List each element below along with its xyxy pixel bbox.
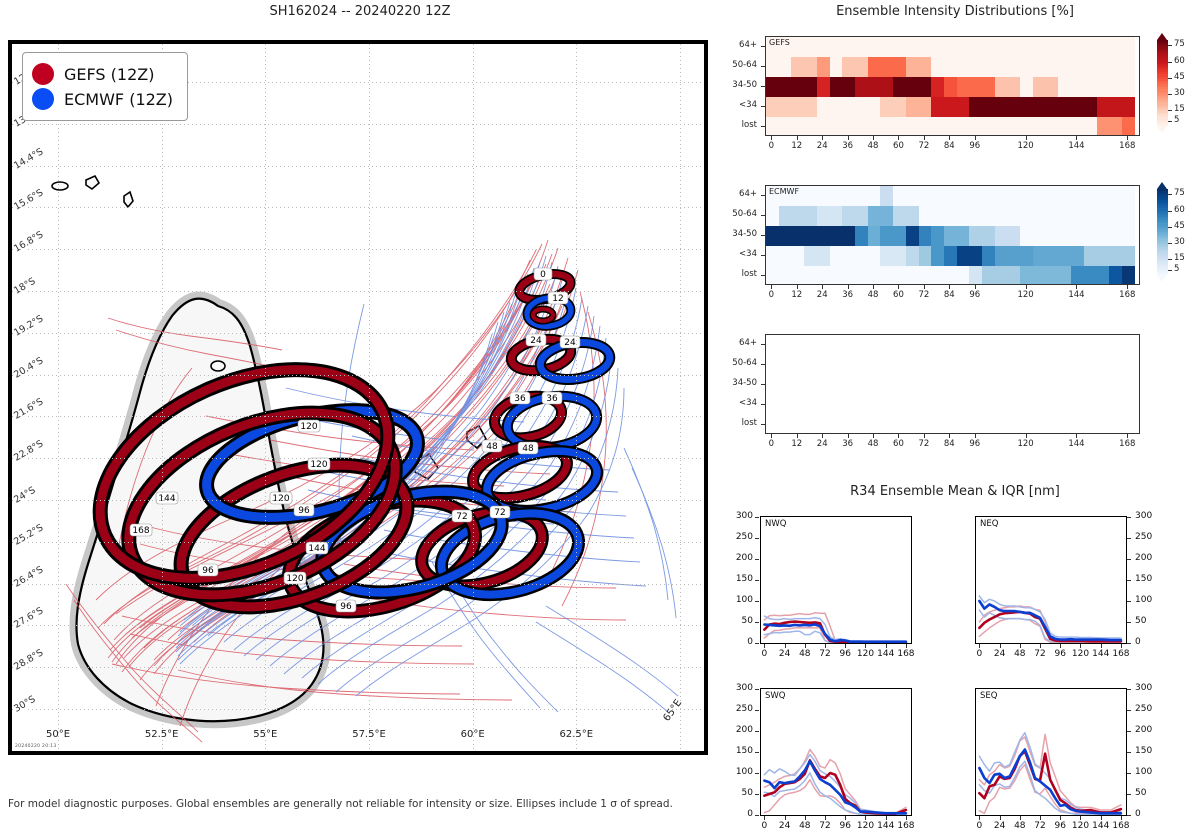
svg-text:120: 120 xyxy=(310,460,327,470)
heatmap-cell xyxy=(1122,37,1135,57)
colorbar-label: 45 xyxy=(1174,72,1185,82)
forecast-track-map[interactable]: 0 12 24 24 36 36 48 48 72 72 96 96 96 12… xyxy=(8,40,708,755)
heatmap-y-label: 50-64 xyxy=(717,358,757,368)
heatmap-cell xyxy=(842,77,855,97)
r34-x-tick xyxy=(805,816,806,820)
heatmap-cell xyxy=(893,226,906,246)
heatmap-x-label: 0 xyxy=(757,439,785,449)
heatmap-cell xyxy=(969,57,982,77)
r34-x-tick xyxy=(785,644,786,648)
heatmap-cell xyxy=(804,226,817,246)
heatmap-x-tick xyxy=(949,285,950,289)
heatmap-cell xyxy=(855,266,868,285)
heatmap-cell xyxy=(868,206,881,226)
heatmap-cell xyxy=(830,206,843,226)
heatmap-cell xyxy=(855,117,868,136)
r34-y-tick xyxy=(1127,794,1131,795)
heatmap-cell xyxy=(1122,266,1135,285)
heatmap-x-tick xyxy=(797,136,798,140)
r34-y-tick xyxy=(755,731,759,732)
heatmap-y-tick xyxy=(761,364,765,365)
heatmap-cell xyxy=(1109,117,1122,136)
heatmap-x-tick xyxy=(822,136,823,140)
heatmap-cell xyxy=(982,57,995,77)
heatmap-x-tick xyxy=(898,136,899,140)
heatmap-cell xyxy=(868,77,881,97)
heatmap-cell xyxy=(880,266,893,285)
r34-y-label: 50 xyxy=(724,616,753,626)
heatmap-x-label: 48 xyxy=(859,290,887,300)
heatmap-y-label: 50-64 xyxy=(717,209,757,219)
heatmap-x-label: 24 xyxy=(808,290,836,300)
heatmap-cell xyxy=(1071,206,1084,226)
heatmap-cell xyxy=(804,246,817,266)
heatmap-cell xyxy=(1097,37,1110,57)
r34-quadrant-tag: NWQ xyxy=(765,519,786,529)
heatmap-cell xyxy=(868,117,881,136)
svg-text:12: 12 xyxy=(552,294,563,304)
heatmap-cell xyxy=(995,206,1008,226)
heatmap-cell xyxy=(1020,206,1033,226)
heatmap-x-label: 48 xyxy=(859,439,887,449)
heatmap-cell xyxy=(766,266,779,285)
heatmap-x-label: 60 xyxy=(884,439,912,449)
heatmap-cell xyxy=(982,117,995,136)
heatmap-x-label: 72 xyxy=(910,141,938,151)
colorbar-extend-min xyxy=(1157,275,1167,282)
heatmap-cell xyxy=(1097,117,1110,136)
heatmap-x-tick xyxy=(873,136,874,140)
heatmap-x-label: 12 xyxy=(783,290,811,300)
heatmap-cell xyxy=(1046,77,1059,97)
heatmap-cell xyxy=(969,186,982,206)
r34-y-tick xyxy=(1127,710,1131,711)
heatmap-cell xyxy=(842,57,855,77)
r34-panel-seq[interactable]: SEQ xyxy=(975,688,1127,816)
r34-x-tick xyxy=(1040,816,1041,820)
svg-text:144: 144 xyxy=(308,544,325,554)
r34-y-label: 250 xyxy=(724,532,753,542)
heatmap-cell xyxy=(817,266,830,285)
r34-x-tick xyxy=(886,816,887,820)
heatmap-cell xyxy=(931,97,944,117)
heatmap-x-label: 120 xyxy=(1012,290,1040,300)
r34-x-tick xyxy=(764,816,765,820)
heatmap-cell xyxy=(1109,226,1122,246)
r34-y-tick xyxy=(1127,580,1131,581)
r34-quadrant-tag: NEQ xyxy=(980,519,998,529)
heatmap-cell xyxy=(931,117,944,136)
heatmap-cell xyxy=(1122,226,1135,246)
r34-x-tick xyxy=(1080,644,1081,648)
heatmap-cell xyxy=(995,186,1008,206)
r34-x-label: 168 xyxy=(1108,821,1134,831)
heatmap-cell xyxy=(982,77,995,97)
r34-y-tick xyxy=(1127,538,1131,539)
heatmap-cell xyxy=(893,117,906,136)
map-legend: GEFS (12Z) ECMWF (12Z) xyxy=(22,52,188,121)
heatmap-cell xyxy=(982,186,995,206)
heatmap-x-label: 36 xyxy=(834,290,862,300)
heatmap-cell xyxy=(1109,57,1122,77)
r34-x-tick xyxy=(845,816,846,820)
intensity-section-title: Ensemble Intensity Distributions [%] xyxy=(720,4,1190,19)
heatmap-x-label: 36 xyxy=(834,141,862,151)
r34-y-tick xyxy=(1127,643,1131,644)
colorbar-tick xyxy=(1168,78,1172,79)
r34-quadrant-tag: SEQ xyxy=(980,691,997,701)
heatmap-cell xyxy=(766,206,779,226)
r34-panel-neq[interactable]: NEQ xyxy=(975,516,1127,644)
heatmap-cell xyxy=(1097,206,1110,226)
heatmap-cell xyxy=(1033,266,1046,285)
map-gridline-horizontal xyxy=(12,667,704,668)
r34-y-tick xyxy=(1127,773,1131,774)
r34-y-label: 300 xyxy=(1135,511,1164,521)
heatmap-y-label: 64+ xyxy=(717,338,757,348)
heatmap-x-label: 0 xyxy=(757,290,785,300)
map-lon-label: 55°E xyxy=(247,729,283,740)
legend-label-gefs: GEFS (12Z) xyxy=(64,65,154,84)
heatmap-cell xyxy=(1071,246,1084,266)
r34-y-label: 100 xyxy=(1135,767,1164,777)
r34-line-ecmwf-q75 xyxy=(979,733,1121,812)
svg-text:96: 96 xyxy=(340,602,352,612)
intensity-heatmap-ecmwf[interactable]: ECMWF xyxy=(765,185,1140,285)
map-title: SH162024 -- 20240220 12Z xyxy=(0,4,720,19)
heatmap-y-tick xyxy=(761,404,765,405)
heatmap-cell xyxy=(1046,266,1059,285)
heatmap-cell xyxy=(791,37,804,57)
r34-y-label: 150 xyxy=(1135,746,1164,756)
r34-y-tick xyxy=(755,643,759,644)
heatmap-cell xyxy=(931,77,944,97)
r34-y-tick xyxy=(755,538,759,539)
heatmap-cell xyxy=(842,206,855,226)
colorbar-label: 60 xyxy=(1174,205,1185,215)
heatmap-cell xyxy=(1071,226,1084,246)
colorbar-gefs xyxy=(1157,40,1168,126)
r34-y-label: 100 xyxy=(1135,595,1164,605)
heatmap-cell xyxy=(1084,77,1097,97)
heatmap-cell xyxy=(1046,246,1059,266)
r34-x-tick xyxy=(906,644,907,648)
heatmap-x-tick xyxy=(898,285,899,289)
heatmap-cell xyxy=(919,246,932,266)
r34-y-label: 150 xyxy=(724,746,753,756)
colorbar-label: 30 xyxy=(1174,237,1185,247)
heatmap-cell xyxy=(855,226,868,246)
colorbar-extend-max xyxy=(1157,182,1167,189)
r34-y-tick xyxy=(755,517,759,518)
heatmap-x-label: 48 xyxy=(859,141,887,151)
heatmap-cell xyxy=(919,37,932,57)
svg-text:96: 96 xyxy=(202,566,214,576)
heatmap-x-label: 144 xyxy=(1062,290,1090,300)
heatmap-cell xyxy=(1020,97,1033,117)
heatmap-cell xyxy=(830,246,843,266)
colorbar-tick xyxy=(1168,270,1172,271)
heatmap-cell xyxy=(830,226,843,246)
heatmap-cell xyxy=(1122,57,1135,77)
r34-y-tick xyxy=(755,601,759,602)
map-gridline-horizontal xyxy=(12,207,704,208)
heatmap-cell xyxy=(1046,37,1059,57)
heatmap-cell xyxy=(1058,117,1071,136)
r34-y-label: 150 xyxy=(1135,574,1164,584)
heatmap-cell xyxy=(766,246,779,266)
heatmap-cell xyxy=(906,266,919,285)
gefs-color-swatch xyxy=(32,63,54,85)
heatmap-cell xyxy=(1084,206,1097,226)
heatmap-cell xyxy=(995,226,1008,246)
heatmap-x-tick xyxy=(898,434,899,438)
heatmap-cell xyxy=(944,246,957,266)
intensity-heatmap-gefs[interactable]: GEFS xyxy=(765,36,1140,136)
heatmap-cell xyxy=(957,226,970,246)
map-lon-label: 57.5°E xyxy=(351,729,387,740)
heatmap-cell xyxy=(880,97,893,117)
heatmap-cell xyxy=(880,206,893,226)
r34-y-tick xyxy=(1127,601,1131,602)
heatmap-y-tick xyxy=(761,66,765,67)
r34-y-tick xyxy=(755,710,759,711)
heatmap-cell xyxy=(944,57,957,77)
heatmap-cell xyxy=(1109,206,1122,226)
r34-x-tick xyxy=(805,644,806,648)
heatmap-x-label: 72 xyxy=(910,439,938,449)
r34-panel-swq[interactable]: SWQ xyxy=(760,688,912,816)
svg-text:120: 120 xyxy=(286,574,303,584)
heatmap-cell xyxy=(995,37,1008,57)
r34-x-tick xyxy=(1040,644,1041,648)
r34-y-tick xyxy=(1127,559,1131,560)
r34-x-tick xyxy=(1000,644,1001,648)
heatmap-cell xyxy=(817,186,830,206)
heatmap-cell xyxy=(779,226,792,246)
heatmap-cell xyxy=(880,186,893,206)
heatmap-cell xyxy=(779,246,792,266)
map-gridline-horizontal xyxy=(12,333,704,334)
heatmap-x-label: 12 xyxy=(783,439,811,449)
heatmap-x-tick xyxy=(1076,285,1077,289)
heatmap-x-tick xyxy=(1127,136,1128,140)
r34-y-tick xyxy=(755,773,759,774)
heatmap-cell xyxy=(830,57,843,77)
heatmap-y-tick xyxy=(761,344,765,345)
map-lon-label: 60°E xyxy=(455,729,491,740)
heatmap-cell xyxy=(1071,57,1084,77)
heatmap-cell xyxy=(982,97,995,117)
heatmap-cell xyxy=(855,97,868,117)
heatmap-cell xyxy=(766,117,779,136)
heatmap-x-tick xyxy=(924,285,925,289)
svg-text:168: 168 xyxy=(132,526,149,536)
map-gridline-horizontal xyxy=(12,291,704,292)
colorbar-ecmwf xyxy=(1157,189,1168,275)
r34-y-label: 200 xyxy=(724,553,753,563)
r34-line-gefs-mean xyxy=(764,760,906,813)
heatmap-y-tick xyxy=(761,106,765,107)
heatmap-x-tick xyxy=(1026,285,1027,289)
heatmap-x-label: 60 xyxy=(884,290,912,300)
heatmap-cell xyxy=(1058,77,1071,97)
heatmap-cell xyxy=(1058,226,1071,246)
heatmap-cell xyxy=(931,266,944,285)
heatmap-x-label: 36 xyxy=(834,439,862,449)
heatmap-cell xyxy=(1071,77,1084,97)
heatmap-y-tick xyxy=(761,384,765,385)
heatmap-x-tick xyxy=(1076,434,1077,438)
heatmap-y-label: 34-50 xyxy=(717,378,757,388)
r34-x-tick xyxy=(1000,816,1001,820)
map-gridline-horizontal xyxy=(12,584,704,585)
heatmap-cell xyxy=(1046,206,1059,226)
colorbar-label: 45 xyxy=(1174,221,1185,231)
heatmap-cell xyxy=(1046,57,1059,77)
heatmap-x-tick xyxy=(1026,136,1027,140)
intensity-heatmap-empty[interactable] xyxy=(765,334,1140,434)
heatmap-cell xyxy=(1058,186,1071,206)
heatmap-cell xyxy=(855,246,868,266)
r34-x-tick xyxy=(1101,644,1102,648)
heatmap-cell xyxy=(1084,226,1097,246)
r34-y-tick xyxy=(1127,517,1131,518)
heatmap-cell xyxy=(1058,266,1071,285)
heatmap-y-tick xyxy=(761,275,765,276)
heatmap-x-tick xyxy=(771,434,772,438)
heatmap-cell xyxy=(804,186,817,206)
heatmap-cell xyxy=(830,266,843,285)
heatmap-x-tick xyxy=(1127,285,1128,289)
heatmap-cell xyxy=(957,186,970,206)
heatmap-cell xyxy=(791,57,804,77)
heatmap-cell xyxy=(944,97,957,117)
heatmap-cell xyxy=(842,226,855,246)
heatmap-cell xyxy=(855,57,868,77)
heatmap-x-label: 168 xyxy=(1113,439,1141,449)
heatmap-cell xyxy=(906,226,919,246)
heatmap-cell xyxy=(1008,266,1021,285)
heatmap-cell xyxy=(1109,186,1122,206)
heatmap-cell xyxy=(1097,57,1110,77)
r34-x-tick xyxy=(845,644,846,648)
svg-text:24: 24 xyxy=(530,336,542,346)
legend-label-ecmwf: ECMWF (12Z) xyxy=(64,90,173,109)
r34-x-label: 168 xyxy=(893,649,919,659)
r34-x-tick xyxy=(865,644,866,648)
heatmap-cell xyxy=(842,246,855,266)
r34-y-label: 250 xyxy=(1135,532,1164,542)
heatmap-cell xyxy=(1033,226,1046,246)
heatmap-y-label: <34 xyxy=(717,398,757,408)
r34-x-tick xyxy=(1121,816,1122,820)
heatmap-model-tag: GEFS xyxy=(769,38,790,47)
colorbar-label: 15 xyxy=(1174,104,1185,114)
heatmap-cell xyxy=(779,206,792,226)
heatmap-cell xyxy=(830,77,843,97)
r34-panel-nwq[interactable]: NWQ xyxy=(760,516,912,644)
heatmap-cell xyxy=(791,117,804,136)
heatmap-cell xyxy=(995,57,1008,77)
map-timestamp: 20240220 20:13 xyxy=(15,744,57,749)
r34-y-label: 0 xyxy=(1135,637,1164,647)
r34-line-gefs-q75 xyxy=(979,734,1121,810)
heatmap-x-label: 120 xyxy=(1012,141,1040,151)
heatmap-cell xyxy=(779,57,792,77)
heatmap-x-label: 96 xyxy=(961,141,989,151)
heatmap-cell xyxy=(944,117,957,136)
heatmap-x-tick xyxy=(822,285,823,289)
svg-text:48: 48 xyxy=(522,444,534,454)
map-gridline-horizontal xyxy=(12,416,704,417)
r34-x-tick xyxy=(1121,644,1122,648)
heatmap-cell xyxy=(957,206,970,226)
r34-y-tick xyxy=(755,794,759,795)
heatmap-cell xyxy=(1097,246,1110,266)
heatmap-cell xyxy=(957,97,970,117)
map-lon-label: 62.5°E xyxy=(558,729,594,740)
heatmap-cell xyxy=(906,186,919,206)
r34-y-tick xyxy=(755,580,759,581)
heatmap-cell xyxy=(766,226,779,246)
r34-line-ecmwf-mean xyxy=(764,761,906,813)
heatmap-y-label: 64+ xyxy=(717,40,757,50)
heatmap-cell xyxy=(919,226,932,246)
heatmap-cell xyxy=(766,77,779,97)
heatmap-cell xyxy=(906,57,919,77)
colorbar-tick xyxy=(1168,62,1172,63)
map-graphics: 0 12 24 24 36 36 48 48 72 72 96 96 96 12… xyxy=(12,44,704,751)
heatmap-cell xyxy=(1097,266,1110,285)
heatmap-x-label: 0 xyxy=(757,141,785,151)
map-gridline-vertical xyxy=(265,44,266,751)
r34-y-tick xyxy=(1127,622,1131,623)
heatmap-cell xyxy=(957,117,970,136)
colorbar-tick xyxy=(1168,194,1172,195)
heatmap-cell xyxy=(969,97,982,117)
heatmap-x-label: 24 xyxy=(808,439,836,449)
heatmap-cell xyxy=(779,266,792,285)
heatmap-cell xyxy=(791,206,804,226)
svg-text:120: 120 xyxy=(272,494,289,504)
heatmap-cell xyxy=(1008,57,1021,77)
heatmap-x-tick xyxy=(848,136,849,140)
heatmap-x-tick xyxy=(873,434,874,438)
heatmap-cell xyxy=(1020,57,1033,77)
map-gridline-vertical xyxy=(680,44,681,751)
svg-text:48: 48 xyxy=(486,442,498,452)
map-lon-label: 50°E xyxy=(40,729,76,740)
heatmap-cell xyxy=(1109,77,1122,97)
r34-x-tick xyxy=(825,644,826,648)
heatmap-cell xyxy=(1058,206,1071,226)
colorbar-tick xyxy=(1168,94,1172,95)
heatmap-cell xyxy=(804,266,817,285)
colorbar-tick xyxy=(1168,121,1172,122)
heatmap-cell xyxy=(1033,37,1046,57)
heatmap-cell xyxy=(791,77,804,97)
heatmap-cell xyxy=(868,246,881,266)
heatmap-cell xyxy=(804,206,817,226)
map-gridline-vertical xyxy=(58,44,59,751)
heatmap-y-label: <34 xyxy=(717,249,757,259)
heatmap-x-label: 96 xyxy=(961,439,989,449)
heatmap-cell xyxy=(779,117,792,136)
heatmap-cell xyxy=(1071,186,1084,206)
heatmap-cell xyxy=(931,206,944,226)
legend-item-ecmwf: ECMWF (12Z) xyxy=(32,88,173,110)
